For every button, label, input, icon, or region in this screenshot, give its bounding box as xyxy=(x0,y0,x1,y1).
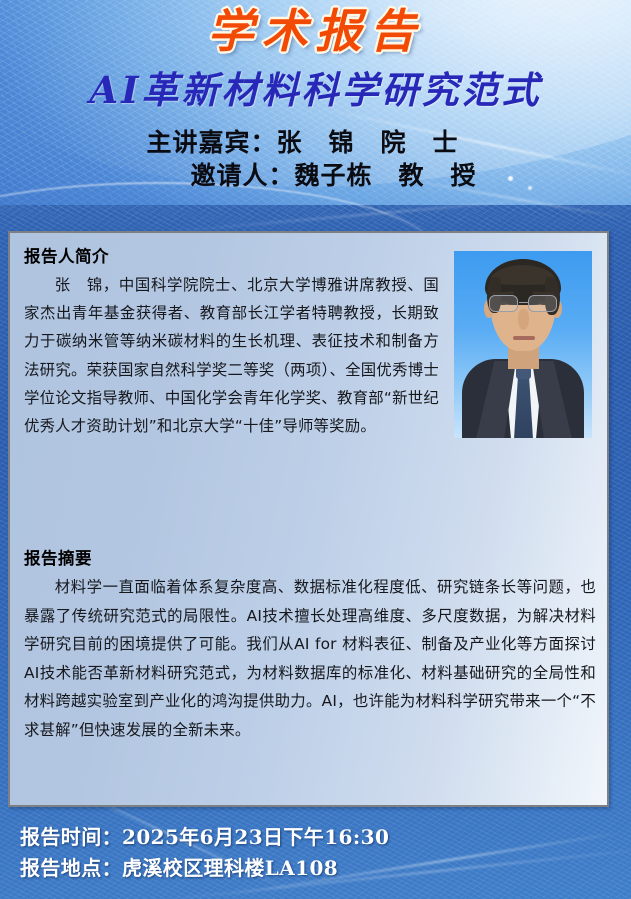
portrait-mouth xyxy=(513,336,535,340)
bio-section-heading: 报告人简介 xyxy=(24,243,109,267)
poster-footer: 报告时间：2025年6月23日下午16:30 报告地点：虎溪校区理科楼LA108 xyxy=(0,806,631,899)
poster-header: 学术报告 AI革新材料科学研究范式 主讲嘉宾：张 锦 院 士 邀请人：魏子栋 教… xyxy=(0,0,631,222)
portrait-nose xyxy=(518,309,529,330)
page-title: AI革新材料科学研究范式 xyxy=(0,68,631,112)
portrait-lens-left xyxy=(489,295,518,312)
event-time: 报告时间：2025年6月23日下午16:30 xyxy=(20,822,631,853)
host-name-line: 邀请人：魏子栋 教 授 xyxy=(0,159,631,192)
abstract-section-text: 材料学一直面临着体系复杂度高、数据标准化程度低、研究链条长等问题，也暴露了传统研… xyxy=(24,573,596,745)
portrait-lens-right xyxy=(528,295,557,312)
speaker-portrait-photo xyxy=(454,251,592,438)
event-location: 报告地点：虎溪校区理科楼LA108 xyxy=(20,853,631,884)
content-panel: 报告人简介 张 锦，中国科学院院士、北京大学博雅讲席教授、国家杰出青年基金获得者… xyxy=(8,231,609,807)
speaker-info-block: 主讲嘉宾：张 锦 院 士 邀请人：魏子栋 教 授 xyxy=(0,126,631,193)
abstract-section-heading: 报告摘要 xyxy=(24,545,92,569)
banner-title: 学术报告 xyxy=(0,6,631,58)
bio-section-text: 张 锦，中国科学院院士、北京大学博雅讲席教授、国家杰出青年基金获得者、教育部长江… xyxy=(24,271,439,440)
speaker-name-line: 主讲嘉宾：张 锦 院 士 xyxy=(0,126,631,159)
seminar-poster: 学术报告 AI革新材料科学研究范式 主讲嘉宾：张 锦 院 士 邀请人：魏子栋 教… xyxy=(0,0,631,899)
portrait-glasses-bridge xyxy=(519,302,528,303)
